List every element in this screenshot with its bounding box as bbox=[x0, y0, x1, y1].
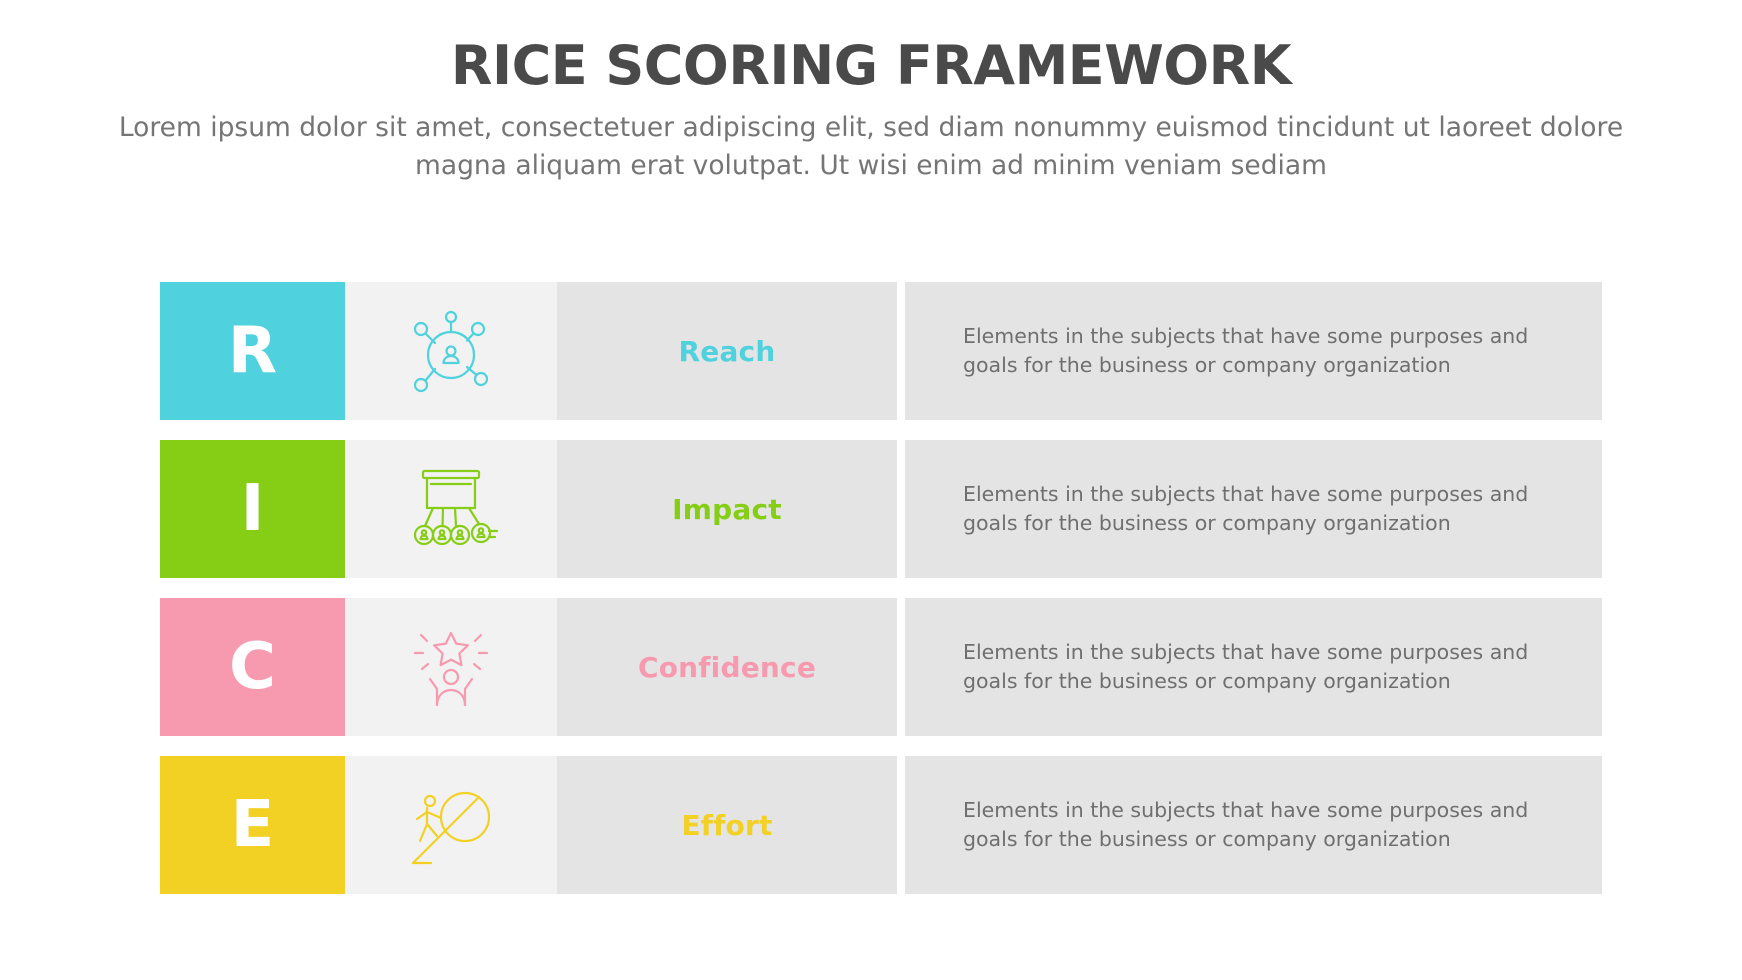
description-box-confidence: Elements in the subjects that have some … bbox=[905, 598, 1602, 736]
rice-row-impact[interactable]: I bbox=[160, 440, 1602, 578]
letter-reach: R bbox=[228, 319, 277, 383]
letter-box-confidence: C bbox=[160, 598, 345, 736]
label-impact: Impact bbox=[672, 493, 782, 526]
icon-box-effort bbox=[345, 756, 557, 894]
person-pushing-boulder-icon bbox=[403, 779, 499, 871]
header: RICE SCORING FRAMEWORK Lorem ipsum dolor… bbox=[0, 0, 1742, 186]
label-box-effort: Effort bbox=[557, 756, 897, 894]
page-title: RICE SCORING FRAMEWORK bbox=[0, 38, 1742, 95]
person-holding-star-icon bbox=[407, 621, 495, 713]
rice-row-confidence[interactable]: C bbox=[160, 598, 1602, 736]
description-box-reach: Elements in the subjects that have some … bbox=[905, 282, 1602, 420]
description-reach: Elements in the subjects that have some … bbox=[963, 322, 1543, 380]
rice-row-effort[interactable]: E Effor bbox=[160, 756, 1602, 894]
infographic-page: RICE SCORING FRAMEWORK Lorem ipsum dolor… bbox=[0, 0, 1742, 980]
letter-effort: E bbox=[231, 793, 275, 857]
rice-rows: R bbox=[160, 282, 1602, 914]
letter-box-effort: E bbox=[160, 756, 345, 894]
description-box-effort: Elements in the subjects that have some … bbox=[905, 756, 1602, 894]
letter-impact: I bbox=[241, 477, 265, 541]
icon-box-impact bbox=[345, 440, 557, 578]
icon-box-confidence bbox=[345, 598, 557, 736]
label-reach: Reach bbox=[679, 335, 776, 368]
letter-confidence: C bbox=[229, 635, 276, 699]
label-box-reach: Reach bbox=[557, 282, 897, 420]
description-confidence: Elements in the subjects that have some … bbox=[963, 638, 1543, 696]
newtons-cradle-people-icon bbox=[403, 463, 499, 555]
letter-box-reach: R bbox=[160, 282, 345, 420]
description-effort: Elements in the subjects that have some … bbox=[963, 796, 1543, 854]
letter-box-impact: I bbox=[160, 440, 345, 578]
description-impact: Elements in the subjects that have some … bbox=[963, 480, 1543, 538]
rice-row-reach[interactable]: R bbox=[160, 282, 1602, 420]
label-box-impact: Impact bbox=[557, 440, 897, 578]
label-box-confidence: Confidence bbox=[557, 598, 897, 736]
page-subtitle: Lorem ipsum dolor sit amet, consectetuer… bbox=[111, 109, 1631, 186]
icon-box-reach bbox=[345, 282, 557, 420]
network-user-icon bbox=[406, 305, 496, 397]
label-confidence: Confidence bbox=[638, 651, 816, 684]
label-effort: Effort bbox=[681, 809, 772, 842]
description-box-impact: Elements in the subjects that have some … bbox=[905, 440, 1602, 578]
